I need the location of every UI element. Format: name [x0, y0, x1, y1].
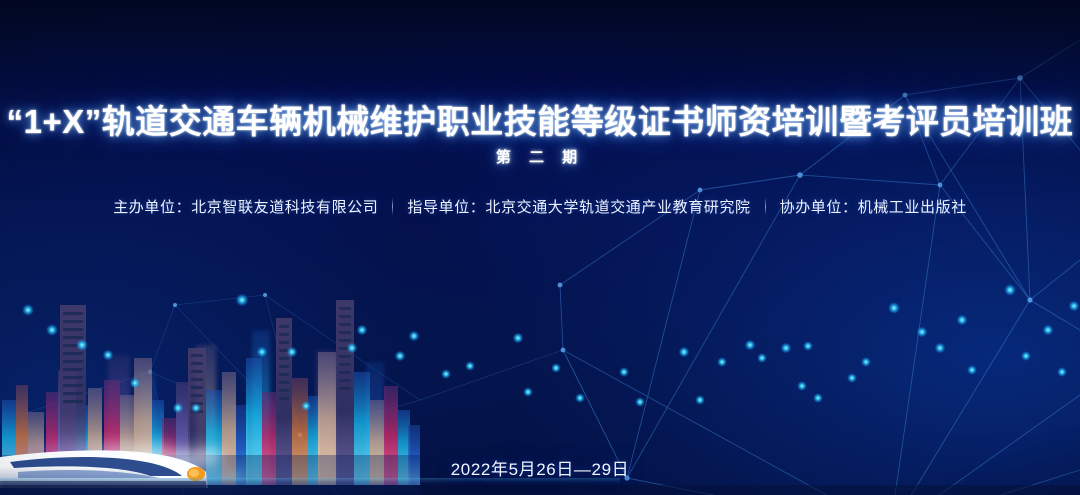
event-banner: “1+X”轨道交通车辆机械维护职业技能等级证书师资培训暨考评员培训班 第 二 期…	[0, 0, 1080, 495]
ground-reflection	[0, 478, 1080, 495]
banner-artwork	[0, 0, 1080, 495]
